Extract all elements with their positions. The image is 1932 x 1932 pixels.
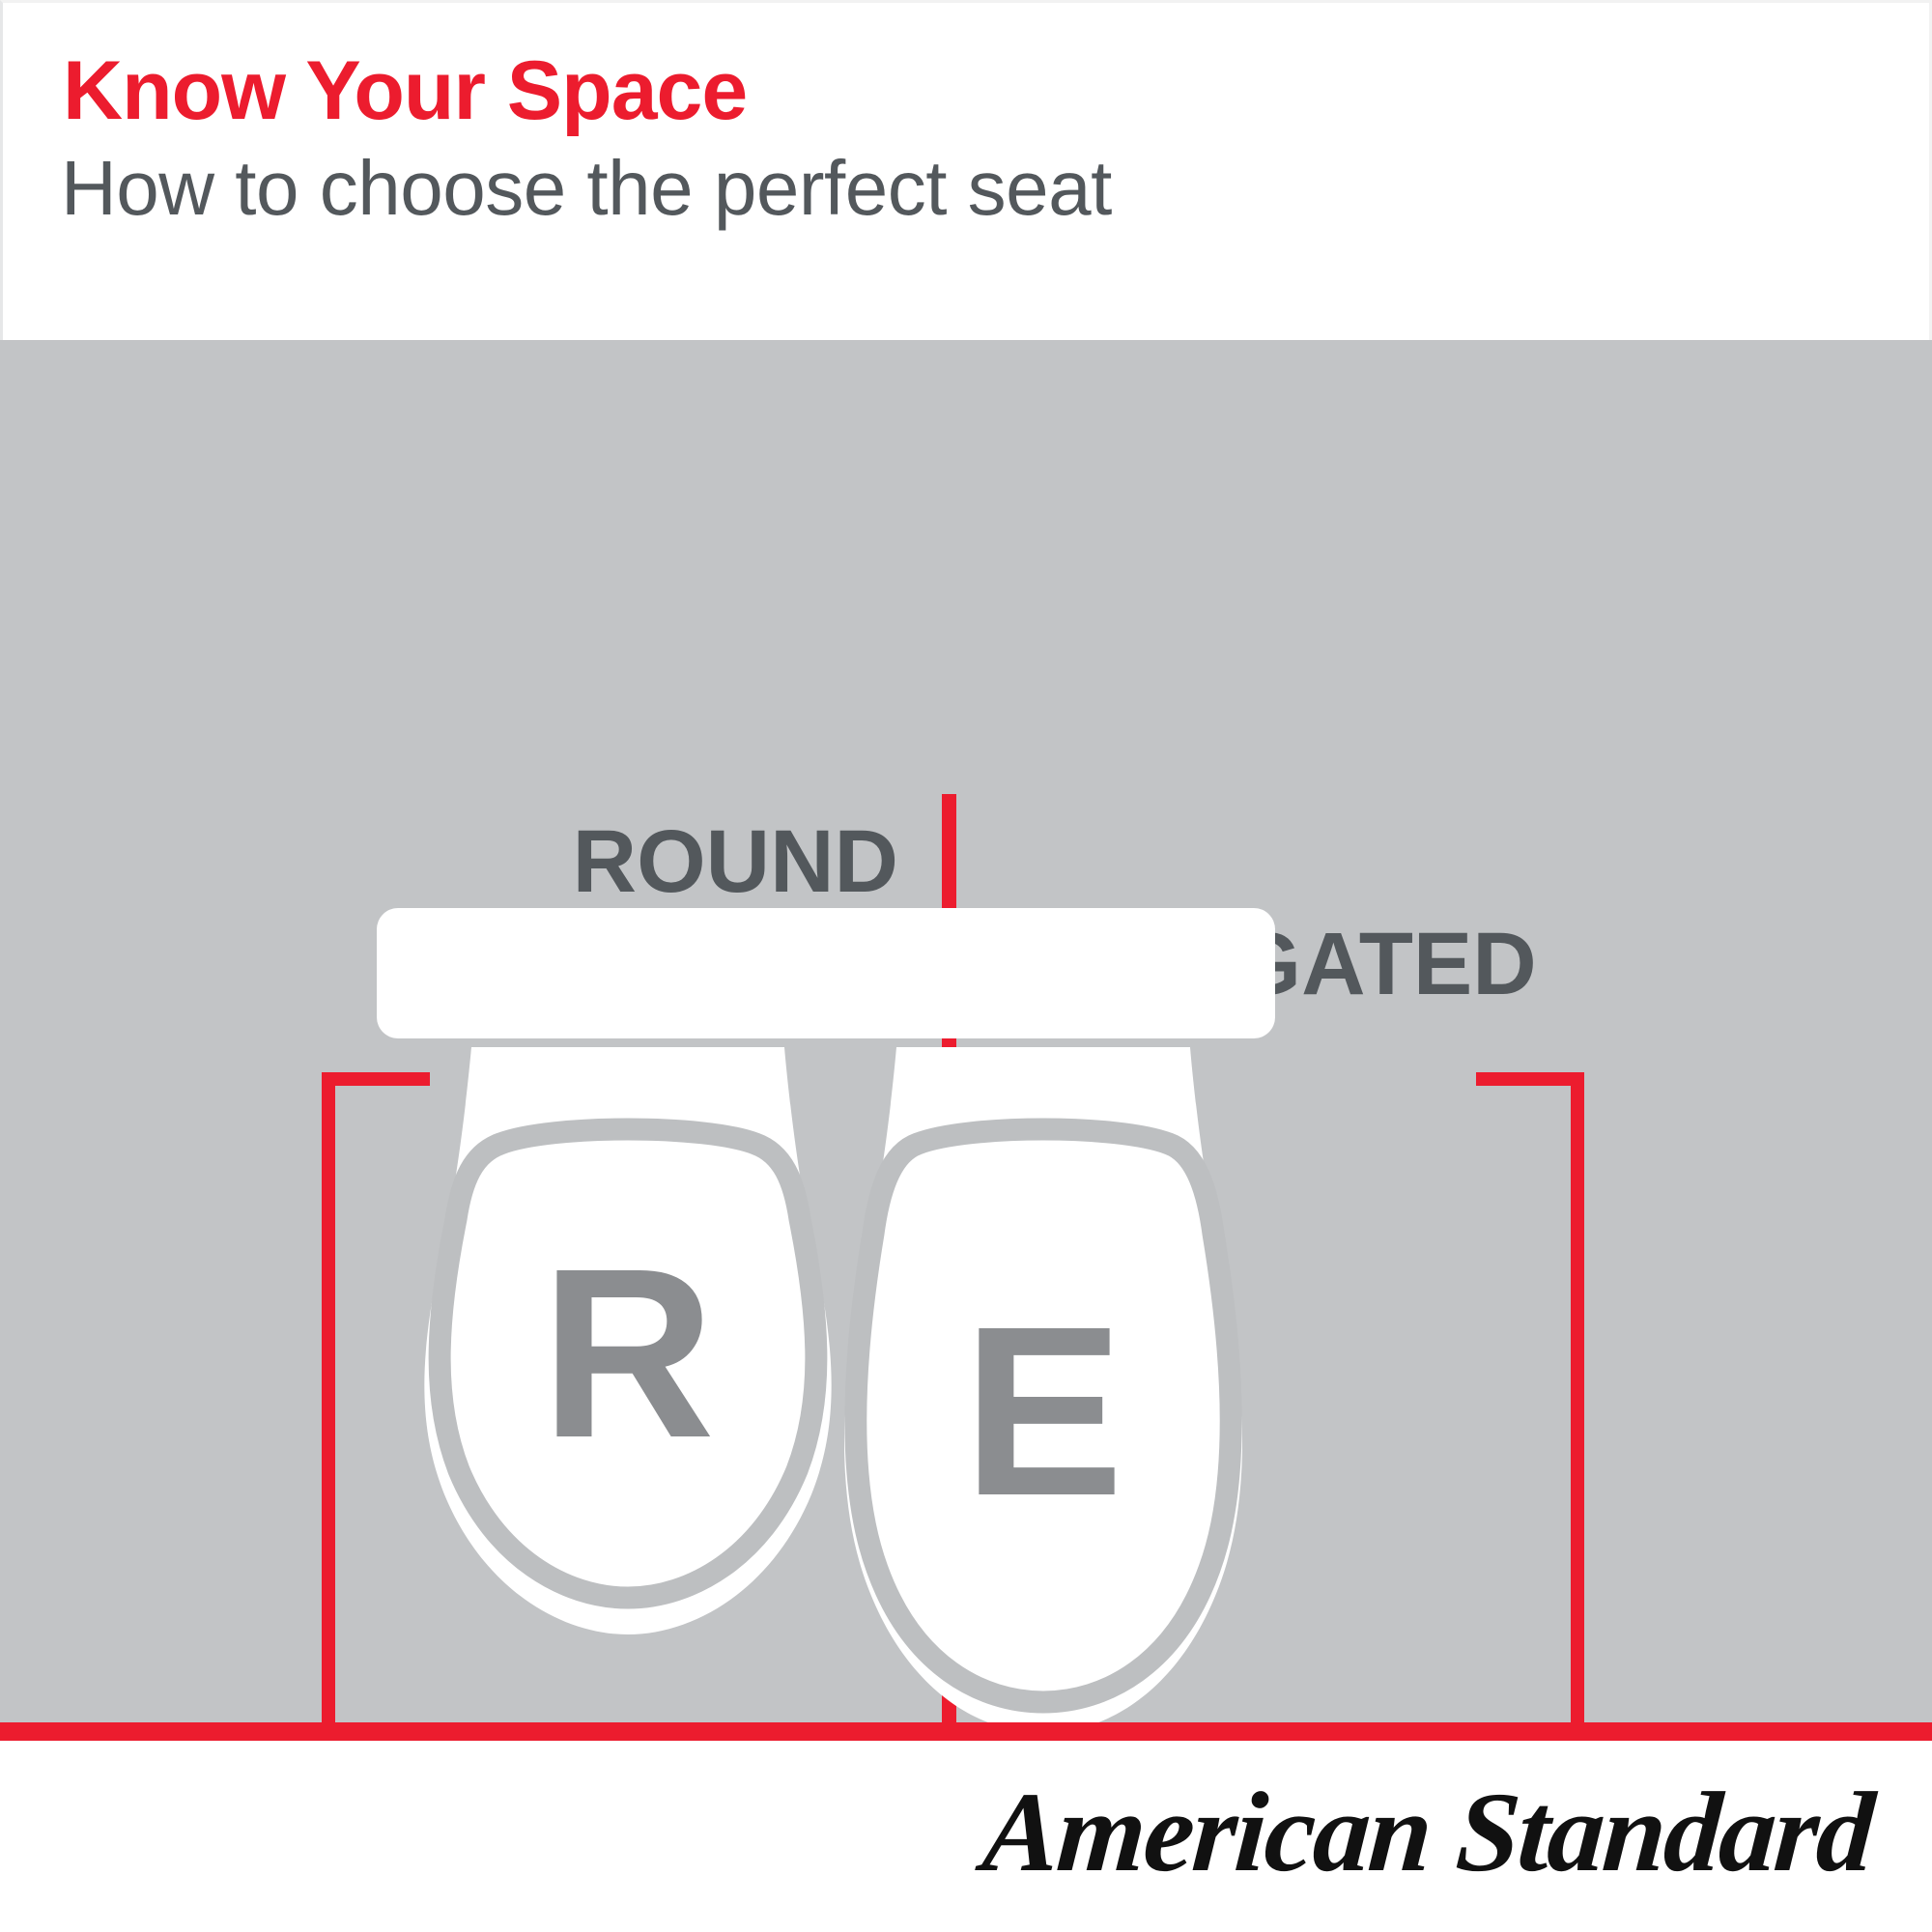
- footer-bar: American Standard: [0, 1741, 1932, 1932]
- american-standard-logo: American Standard: [979, 1760, 1878, 1905]
- toilet-illustration-elongated: E: [773, 900, 1314, 1818]
- bracket-stem: [322, 1072, 335, 1739]
- bowl-letter-round: R: [541, 1218, 716, 1488]
- bracket-stem: [1571, 1072, 1584, 1818]
- page-subtitle: How to choose the perfect seat: [61, 150, 1112, 227]
- heading-round-front-line1: ROUND: [348, 815, 898, 908]
- width-bracket-elongated: [1476, 1072, 1584, 1818]
- accent-bar: [0, 1722, 1932, 1741]
- tank-shape: [792, 908, 1275, 1038]
- infographic-page: Know Your Space How to choose the perfec…: [0, 0, 1932, 1932]
- bowl-letter-elongated: E: [963, 1276, 1124, 1546]
- header-banner: Know Your Space How to choose the perfec…: [0, 0, 1932, 340]
- elongated-svg: E: [773, 900, 1314, 1818]
- bracket-arm-top: [1476, 1072, 1584, 1086]
- comparison-panel: ROUND FRONT ELONGATED R: [0, 340, 1932, 1722]
- page-title: Know Your Space: [63, 49, 747, 132]
